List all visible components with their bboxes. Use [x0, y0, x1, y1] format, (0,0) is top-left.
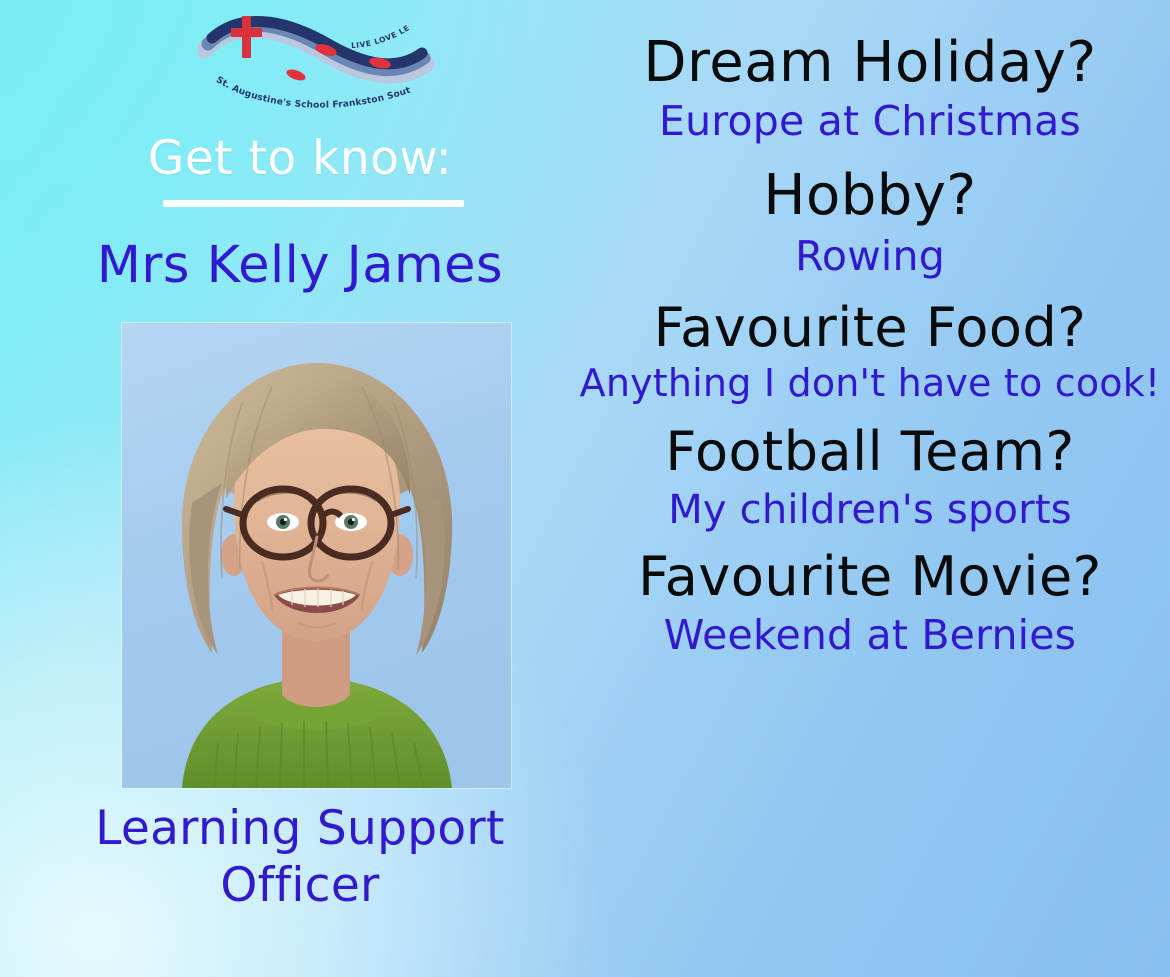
qa-answer: Anything I don't have to cook!	[570, 364, 1170, 404]
qa-question: Favourite Food?	[570, 300, 1170, 355]
qa-column: Dream Holiday? Europe at Christmas Hobby…	[570, 0, 1170, 977]
heading-underline	[163, 200, 464, 207]
person-role: Learning Support Officer	[0, 800, 600, 915]
person-name: Mrs Kelly James	[0, 238, 600, 294]
qa-block-favourite-movie: Favourite Movie? Weekend at Bernies	[570, 549, 1170, 657]
qa-question: Dream Holiday?	[570, 34, 1170, 91]
qa-block-dream-holiday: Dream Holiday? Europe at Christmas	[570, 34, 1170, 143]
qa-answer: Weekend at Bernies	[570, 614, 1170, 657]
qa-answer: Rowing	[570, 235, 1170, 278]
qa-question: Favourite Movie?	[570, 549, 1170, 604]
qa-answer: My children's sports	[570, 489, 1170, 531]
qa-answer: Europe at Christmas	[570, 100, 1170, 143]
portrait-photo	[122, 323, 511, 788]
school-logo: LIVE LOVE LEARN St. Augustine's School F…	[198, 6, 438, 118]
left-column: LIVE LOVE LEARN St. Augustine's School F…	[0, 0, 600, 977]
qa-question: Football Team?	[570, 424, 1170, 479]
person-role-line-1: Learning Support	[0, 800, 600, 857]
get-to-know-heading: Get to know:	[0, 135, 600, 182]
qa-block-favourite-food: Favourite Food? Anything I don't have to…	[570, 300, 1170, 404]
qa-block-football-team: Football Team? My children's sports	[570, 424, 1170, 531]
qa-block-hobby: Hobby? Rowing	[570, 167, 1170, 278]
poster-canvas: LIVE LOVE LEARN St. Augustine's School F…	[0, 0, 1170, 977]
qa-question: Hobby?	[570, 167, 1170, 224]
person-role-line-2: Officer	[0, 857, 600, 914]
